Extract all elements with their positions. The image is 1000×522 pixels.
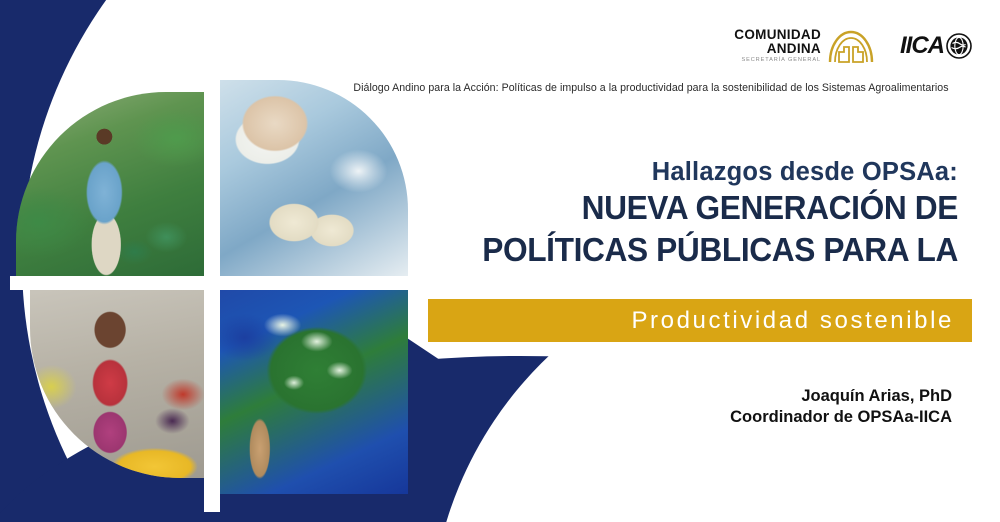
photo-earth-image <box>218 288 408 494</box>
iica-wordmark: IICA <box>900 32 944 60</box>
photo-earth <box>218 288 408 494</box>
title-block: Hallazgos desde OPSAa: NUEVA GENERACIÓN … <box>338 158 958 270</box>
comunidad-andina-line2: ANDINA <box>734 42 821 56</box>
author-name: Joaquín Arias, PhD <box>730 386 952 407</box>
collage-horizontal-gutter <box>10 276 414 290</box>
highlight-band-text: Productividad sostenible <box>631 307 972 335</box>
author-role: Coordinador de OPSAa-IICA <box>730 407 952 428</box>
title-kicker: Hallazgos desde OPSAa: <box>338 158 958 186</box>
presentation-slide: COMUNIDAD ANDINA SECRETARÍA GENERAL IICA <box>0 0 1000 522</box>
event-subtitle: Diálogo Andino para la Acción: Políticas… <box>336 82 966 94</box>
photo-market-image <box>30 288 208 478</box>
comunidad-andina-wordmark: COMUNIDAD ANDINA SECRETARÍA GENERAL <box>734 28 821 63</box>
photo-market <box>30 288 208 478</box>
iica-logo: IICA <box>900 32 972 60</box>
highlight-band: Productividad sostenible <box>428 299 972 342</box>
globe-icon <box>946 33 972 59</box>
comunidad-andina-line3: SECRETARÍA GENERAL <box>734 58 821 64</box>
author-block: Joaquín Arias, PhD Coordinador de OPSAa-… <box>730 386 952 428</box>
andean-arch-icon <box>828 28 874 64</box>
comunidad-andina-logo: COMUNIDAD ANDINA SECRETARÍA GENERAL <box>734 28 874 64</box>
comunidad-andina-line1: COMUNIDAD <box>734 28 821 42</box>
photo-farmer-image <box>16 92 204 278</box>
title-line-1: NUEVA GENERACIÓN DE <box>363 189 958 228</box>
photo-farmer <box>16 92 204 278</box>
logo-bar: COMUNIDAD ANDINA SECRETARÍA GENERAL IICA <box>734 28 972 64</box>
title-line-2: POLÍTICAS PÚBLICAS PARA LA <box>363 231 958 270</box>
collage-vertical-gutter <box>204 72 220 512</box>
